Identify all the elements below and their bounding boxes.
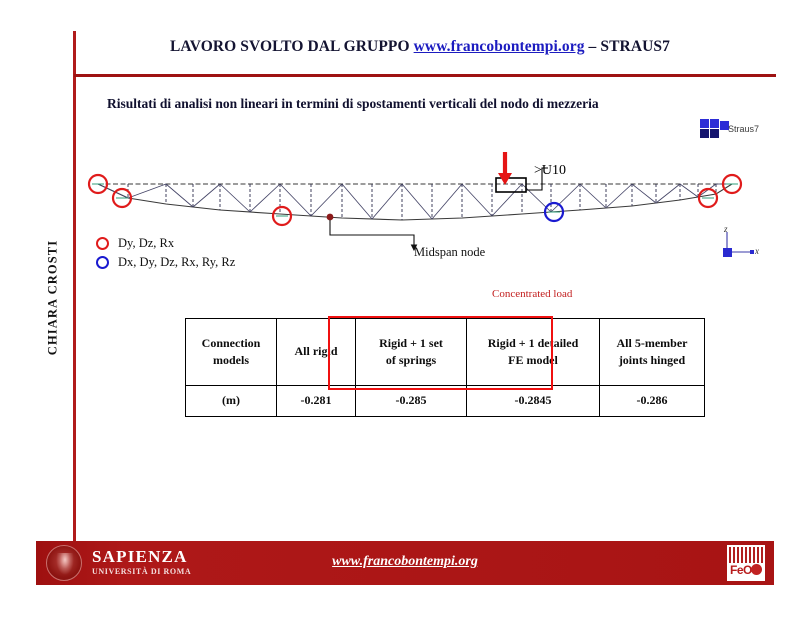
header-line-1: Rigid + 1 set xyxy=(362,335,460,352)
header-line-1: Connection xyxy=(192,335,270,352)
concentrated-load-label: Concentrated load xyxy=(492,288,572,300)
header-line-1: All rigid xyxy=(283,343,349,360)
results-table: Connection models All rigid Rigid + 1 se… xyxy=(185,318,705,417)
header-cell-joints-hinged: All 5-member joints hinged xyxy=(600,319,705,386)
table-row: (m) -0.281 -0.285 -0.2845 -0.286 xyxy=(186,386,705,417)
header-line-2: of springs xyxy=(362,352,460,369)
title-link[interactable]: www.francobontempi.org xyxy=(414,38,585,55)
feo-logo: FeO xyxy=(727,545,765,581)
cell-hinged-value: -0.286 xyxy=(600,386,705,417)
author-name-vertical: CHIARA CROSTI xyxy=(46,228,61,368)
legend-label-red: Dy, Dz, Rx xyxy=(118,236,174,251)
vertical-red-rule xyxy=(73,31,76,551)
red-circle-icon xyxy=(96,237,109,250)
cell-detailed-fe-value: -0.2845 xyxy=(467,386,600,417)
title-suffix: – STRAUS7 xyxy=(585,38,670,55)
blue-circle-icon xyxy=(96,256,109,269)
legend-label-blue: Dx, Dy, Dz, Rx, Ry, Rz xyxy=(118,255,235,270)
legend-item-blue: Dx, Dy, Dz, Rx, Ry, Rz xyxy=(96,253,235,272)
feo-blob-icon xyxy=(751,564,762,575)
results-table-container: Connection models All rigid Rigid + 1 se… xyxy=(185,318,705,417)
axis-triad: z x xyxy=(718,226,764,260)
slide-subtitle: Risultati di analisi non lineari in term… xyxy=(107,96,599,112)
header-line-2: joints hinged xyxy=(606,352,698,369)
axis-label-z: z xyxy=(724,224,728,234)
feo-logo-label: FeO xyxy=(730,564,752,576)
straus7-logo-label: Straus7 xyxy=(728,124,759,134)
support-legend: Dy, Dz, Rx Dx, Dy, Dz, Rx, Ry, Rz xyxy=(96,234,235,272)
title-prefix: LAVORO SVOLTO DAL GRUPPO xyxy=(170,38,414,55)
header-cell-rigid-springs: Rigid + 1 set of springs xyxy=(356,319,467,386)
cell-units: (m) xyxy=(186,386,277,417)
straus7-tiles-icon xyxy=(700,119,722,141)
header-line-2: models xyxy=(192,352,270,369)
table-header-row: Connection models All rigid Rigid + 1 se… xyxy=(186,319,705,386)
header-cell-connection-models: Connection models xyxy=(186,319,277,386)
horizontal-red-rule xyxy=(74,74,776,77)
slide-canvas: LAVORO SVOLTO DAL GRUPPO www.francobonte… xyxy=(0,0,800,617)
footer-bar: SAPIENZA UNIVERSITÀ DI ROMA www.francobo… xyxy=(36,541,774,585)
header-line-1: All 5-member xyxy=(606,335,698,352)
u10-node-label: >U10 xyxy=(534,163,566,179)
header-line-1: Rigid + 1 detailed xyxy=(473,335,593,352)
axis-label-x: x xyxy=(755,246,759,256)
feo-grid-icon xyxy=(729,547,763,563)
midspan-node-label: Midspan node xyxy=(414,245,485,260)
header-line-2: FE model xyxy=(473,352,593,369)
legend-item-red: Dy, Dz, Rx xyxy=(96,234,235,253)
cell-all-rigid-value: -0.281 xyxy=(277,386,356,417)
cell-springs-value: -0.285 xyxy=(356,386,467,417)
header-cell-all-rigid: All rigid xyxy=(277,319,356,386)
header-cell-rigid-detailed-fe: Rigid + 1 detailed FE model xyxy=(467,319,600,386)
page-title: LAVORO SVOLTO DAL GRUPPO www.francobonte… xyxy=(110,38,730,56)
footer-url-link[interactable]: www.francobontempi.org xyxy=(36,554,774,570)
